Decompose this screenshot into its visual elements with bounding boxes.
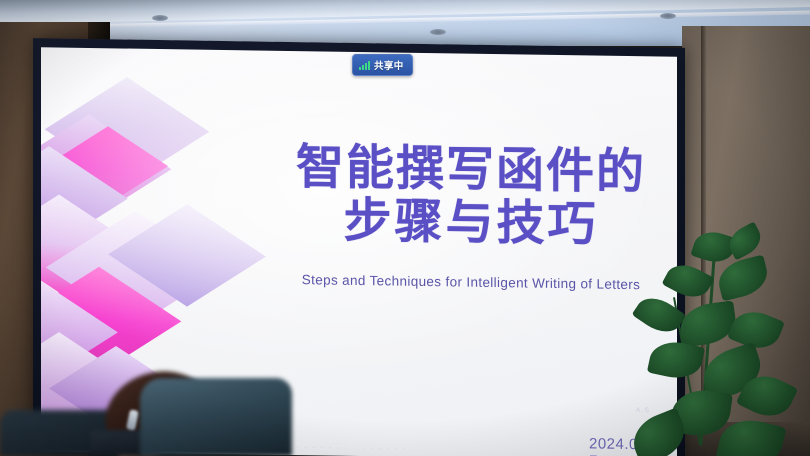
slide-title-line-2: 步骤与技巧: [271, 196, 671, 251]
laptop-device: [90, 430, 144, 456]
screen-sharing-badge[interactable]: 共享中: [352, 54, 413, 76]
slide-footnote: · · · · · · · · · · · · · ·: [296, 444, 626, 456]
plant-leaf: [677, 300, 738, 347]
potted-plant: [632, 226, 782, 456]
slide-subtitle: Steps and Techniques for Intelligent Wri…: [271, 272, 671, 293]
slide-title-line-1: 智能撰写函件的: [271, 143, 671, 198]
downlight-icon: [660, 13, 676, 19]
downlight-icon: [430, 29, 446, 35]
plant-leaf: [632, 290, 687, 341]
screen-sharing-label: 共享中: [374, 58, 404, 72]
office-chair-primary: [140, 378, 292, 456]
meeting-room-scene: 智能撰写函件的 步骤与技巧 Steps and Techniques for I…: [0, 0, 810, 456]
slide-title-block: 智能撰写函件的 步骤与技巧 Steps and Techniques for I…: [271, 143, 671, 293]
plant-leaf: [714, 254, 771, 301]
downlight-icon: [152, 15, 168, 21]
plant-leaf: [662, 257, 715, 304]
signal-bars-icon: [359, 61, 370, 70]
